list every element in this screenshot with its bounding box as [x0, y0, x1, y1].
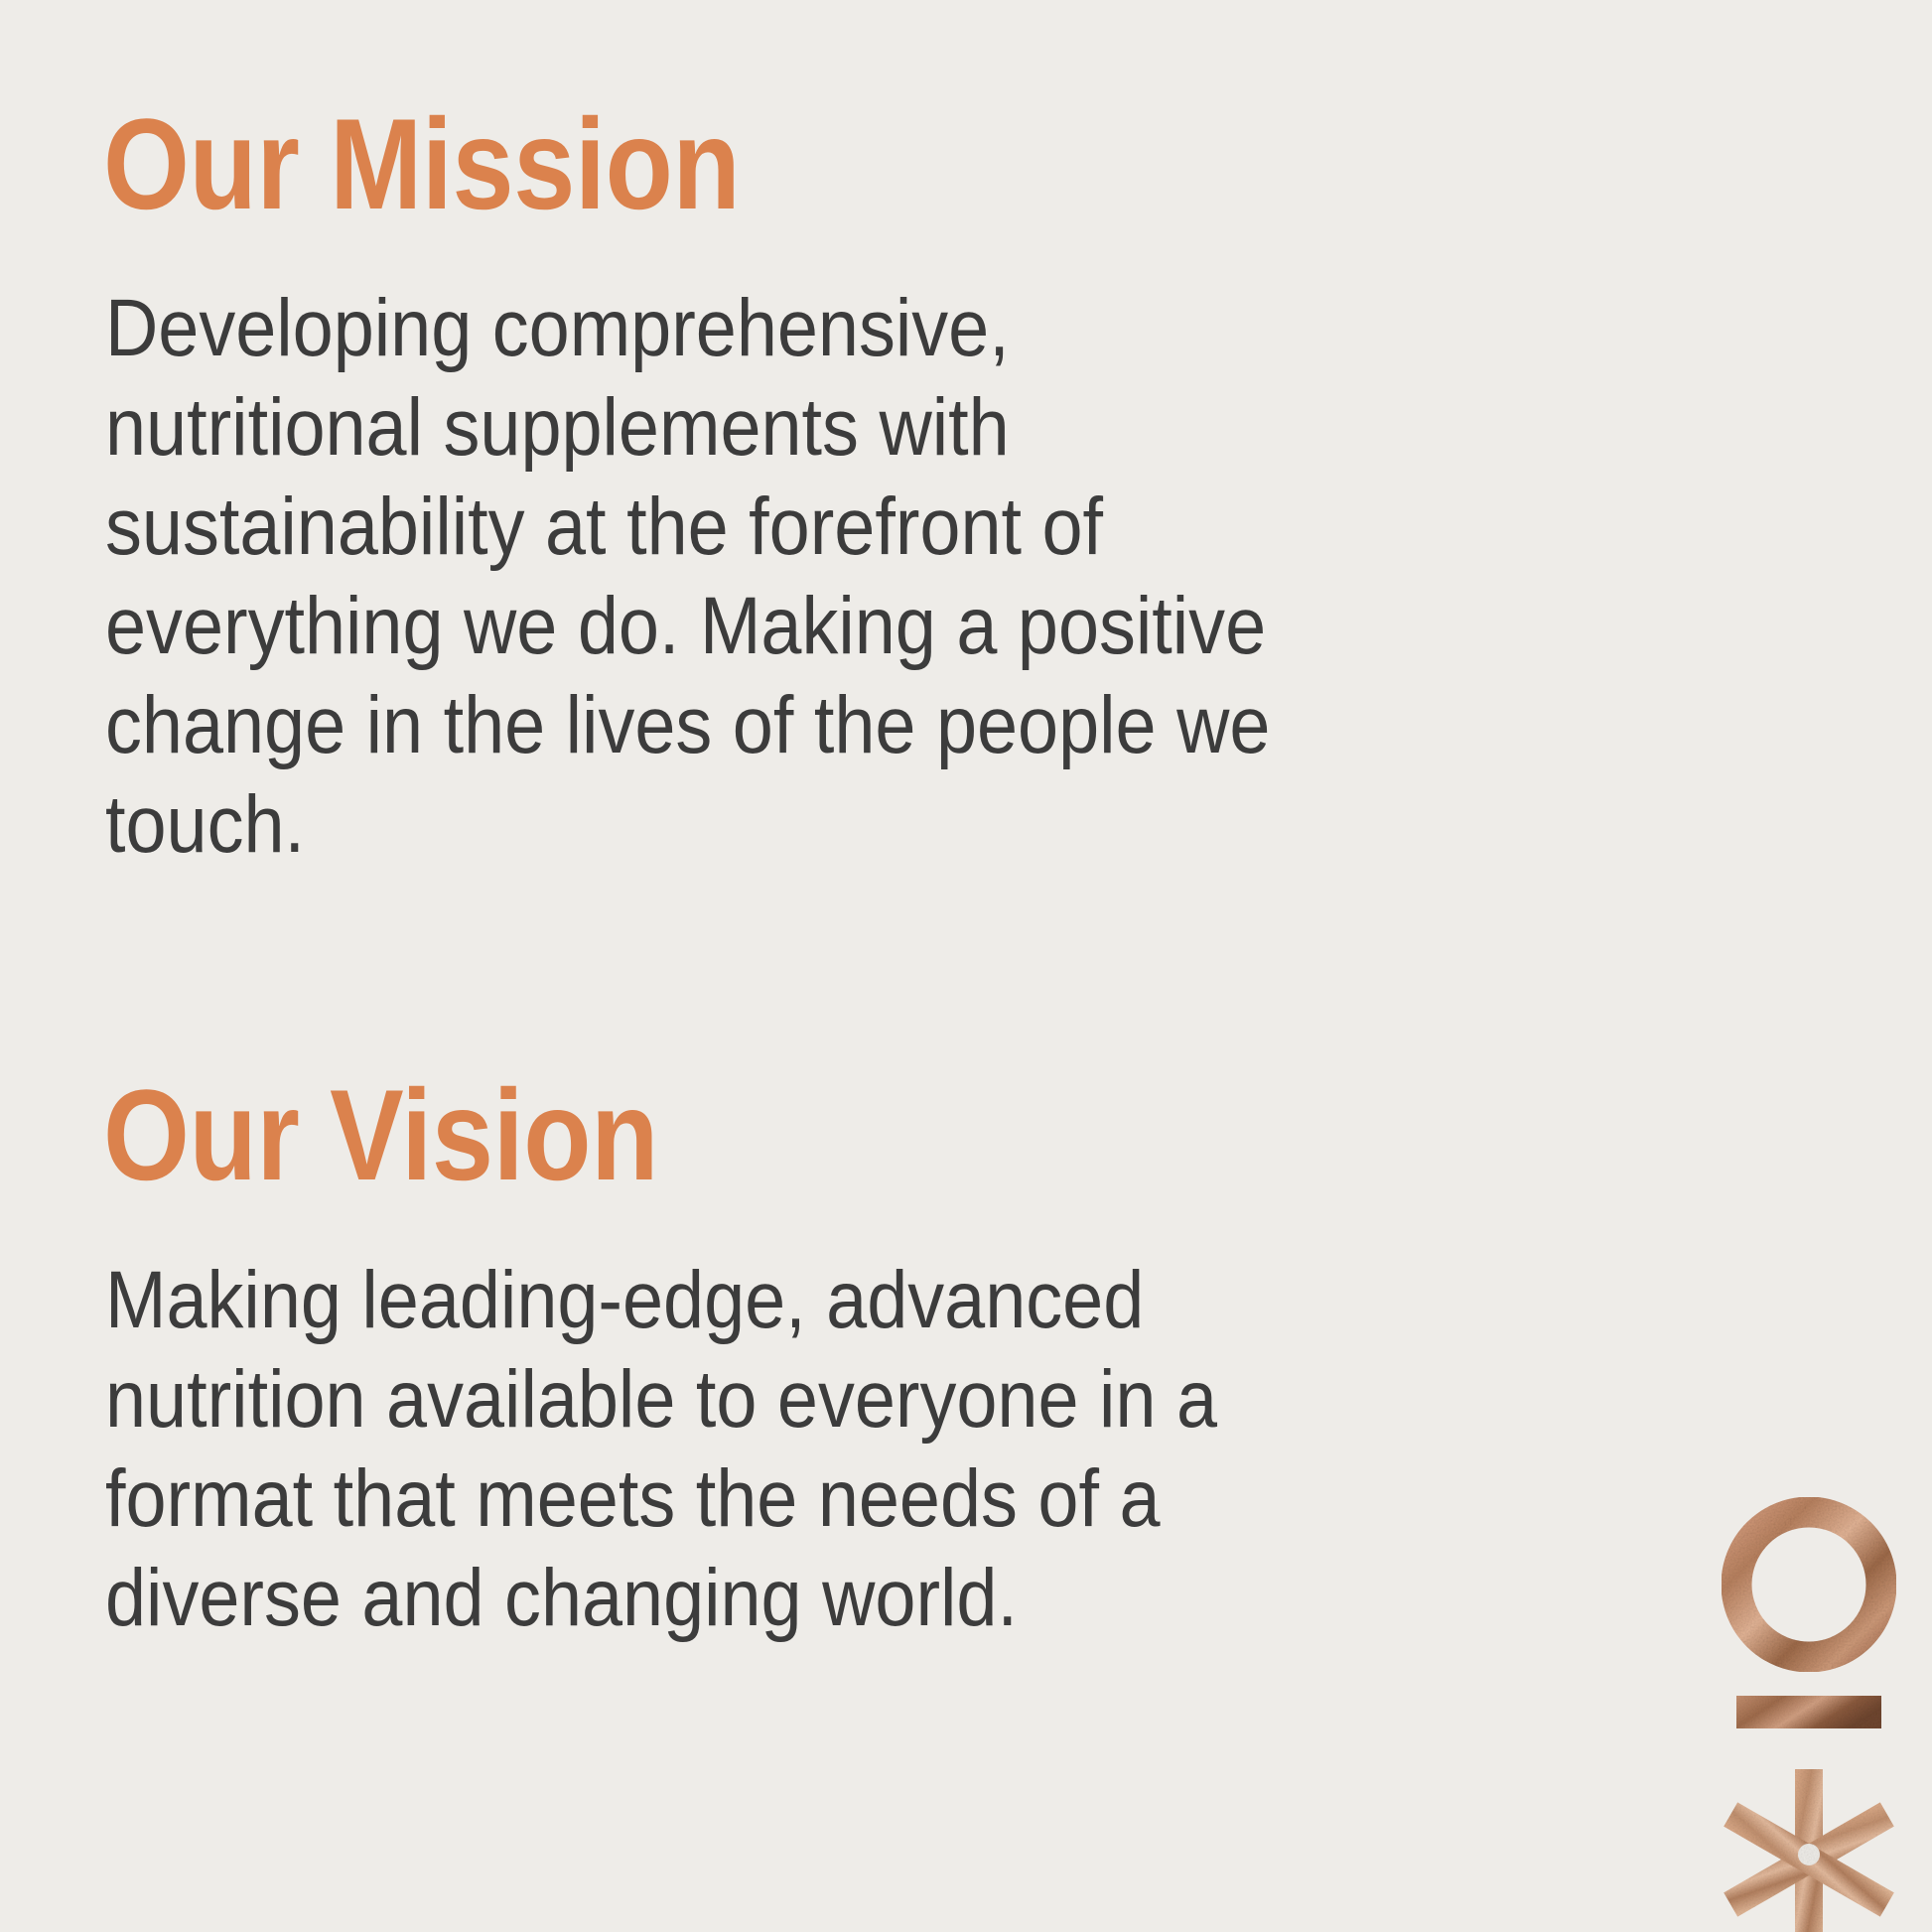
- logo-ring-shape: [1736, 1512, 1881, 1657]
- mission-body-text: Developing comprehensive, nutritional su…: [105, 279, 1303, 875]
- vision-heading: Our Vision: [103, 1070, 658, 1199]
- brand-logo: [1715, 1493, 1903, 1932]
- vision-body-text: Making leading-edge, advanced nutrition …: [105, 1251, 1303, 1648]
- mission-heading: Our Mission: [103, 99, 740, 228]
- poster-canvas: Our Mission Developing comprehensive, nu…: [0, 0, 1932, 1932]
- logo-asterisk-shape: [1724, 1769, 1894, 1932]
- logo-bar-shape: [1736, 1696, 1881, 1728]
